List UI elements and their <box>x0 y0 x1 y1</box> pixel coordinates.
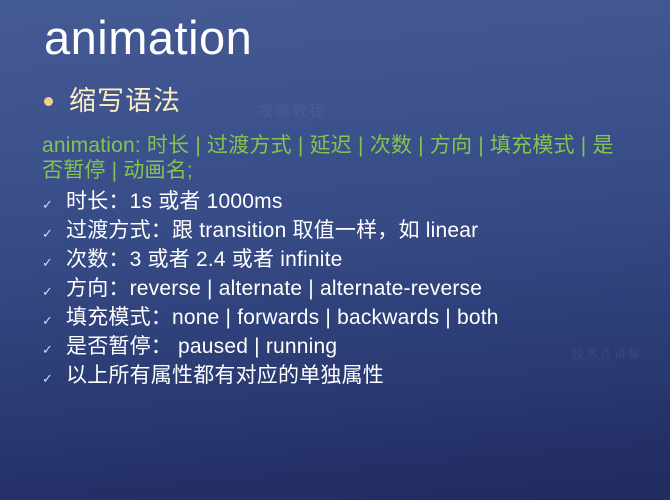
list-item-label: 方向：reverse | alternate | alternate-rever… <box>66 274 482 303</box>
check-mark-icon: ✓ <box>42 190 66 219</box>
section-heading: 缩写语法 <box>44 88 181 115</box>
slide-title: animation <box>44 14 252 61</box>
list-item: ✓ 次数：3 或者 2.4 或者 infinite <box>42 245 662 274</box>
list-item: ✓ 是否暂停： paused | running <box>42 332 662 361</box>
presentation-slide: 视频教程 技术点讲解 animation 缩写语法 animation: 时长 … <box>0 0 670 500</box>
list-item-label: 是否暂停： paused | running <box>66 332 337 361</box>
check-mark-icon: ✓ <box>42 219 66 248</box>
list-item: ✓ 以上所有属性都有对应的单独属性 <box>42 361 662 390</box>
watermark-center: 视频教程 <box>258 100 326 121</box>
list-item-label: 以上所有属性都有对应的单独属性 <box>66 361 384 390</box>
list-item: ✓ 时长：1s 或者 1000ms <box>42 187 662 216</box>
check-mark-icon: ✓ <box>42 248 66 277</box>
check-mark-icon: ✓ <box>42 364 66 393</box>
dot-bullet-icon <box>44 97 53 106</box>
check-mark-icon: ✓ <box>42 335 66 364</box>
list-item-label: 填充模式：none | forwards | backwards | both <box>66 303 499 332</box>
check-mark-icon: ✓ <box>42 277 66 306</box>
list-item-label: 时长：1s 或者 1000ms <box>66 187 283 216</box>
list-item: ✓ 过渡方式：跟 transition 取值一样，如 linear <box>42 216 662 245</box>
list-item: ✓ 填充模式：none | forwards | backwards | bot… <box>42 303 662 332</box>
section-heading-label: 缩写语法 <box>69 88 181 115</box>
list-item: ✓ 方向：reverse | alternate | alternate-rev… <box>42 274 662 303</box>
list-item-label: 次数：3 或者 2.4 或者 infinite <box>66 245 343 274</box>
property-list: ✓ 时长：1s 或者 1000ms ✓ 过渡方式：跟 transition 取值… <box>42 187 662 390</box>
syntax-code-line: animation: 时长 | 过渡方式 | 延迟 | 次数 | 方向 | 填充… <box>42 133 630 183</box>
check-mark-icon: ✓ <box>42 306 66 335</box>
list-item-label: 过渡方式：跟 transition 取值一样，如 linear <box>66 216 478 245</box>
